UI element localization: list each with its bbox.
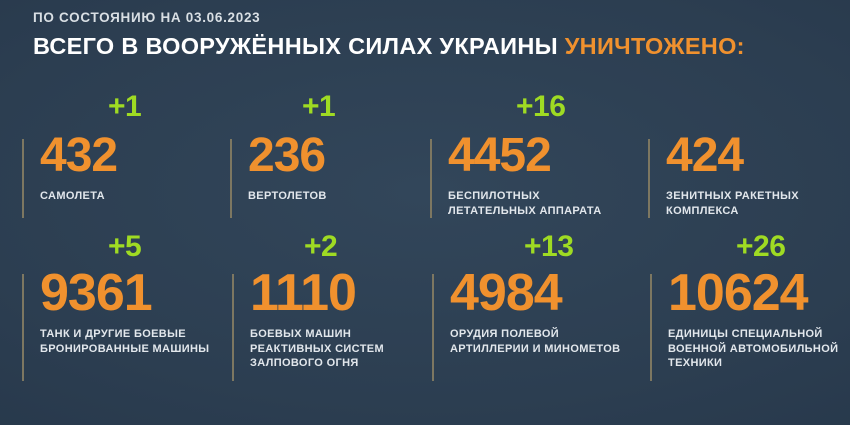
stat-caption: САМОЛЕТА (40, 189, 105, 204)
delta-badge: +16 (516, 92, 565, 122)
stat-value: 1110 (250, 267, 356, 319)
cell-divider (430, 139, 432, 218)
cell-divider (22, 274, 24, 381)
delta-badge: +2 (304, 232, 337, 262)
cell-divider (650, 274, 652, 381)
delta-badge: +1 (302, 92, 335, 122)
stats-row: +5 9361 ТАНК И ДРУГИЕ БОЕВЫЕ БРОНИРОВАНН… (0, 232, 850, 382)
cell-divider (432, 274, 434, 381)
page-title: ВСЕГО В ВООРУЖЁННЫХ СИЛАХ УКРАИНЫ УНИЧТО… (33, 35, 840, 59)
delta-badge: +26 (736, 232, 785, 262)
cell-divider (22, 139, 24, 218)
page-title-main: ВСЕГО В ВООРУЖЁННЫХ СИЛАХ УКРАИНЫ (33, 33, 565, 59)
stats-row: +1 432 САМОЛЕТА +1 236 ВЕРТОЛЕТОВ +16 44… (0, 92, 850, 232)
cell-divider (232, 274, 234, 381)
cell-divider (648, 139, 650, 218)
stat-caption: ТАНК И ДРУГИЕ БОЕВЫЕ БРОНИРОВАННЫЕ МАШИН… (40, 327, 209, 356)
poster-header: ПО СОСТОЯНИЮ НА 03.06.2023 ВСЕГО В ВООРУ… (33, 11, 840, 58)
stat-value: 424 (666, 132, 743, 180)
delta-badge: +1 (108, 92, 141, 122)
stat-caption: ЕДИНИЦЫ СПЕЦИАЛЬНОЙ ВОЕННОЙ АВТОМОБИЛЬНО… (668, 327, 838, 371)
stat-caption: ЗЕНИТНЫХ РАКЕТНЫХ КОМПЛЕКСА (666, 189, 799, 218)
delta-badge: +5 (108, 232, 141, 262)
page-title-accent: УНИЧТОЖЕНО: (565, 33, 745, 59)
stat-value: 4984 (450, 267, 562, 319)
stat-caption: БОЕВЫХ МАШИН РЕАКТИВНЫХ СИСТЕМ ЗАЛПОВОГО… (250, 327, 384, 371)
stats-grid: +1 432 САМОЛЕТА +1 236 ВЕРТОЛЕТОВ +16 44… (0, 92, 850, 382)
as-of-date: ПО СОСТОЯНИЮ НА 03.06.2023 (33, 11, 840, 25)
stat-caption: ОРУДИЯ ПОЛЕВОЙ АРТИЛЛЕРИИ И МИНОМЕТОВ (450, 327, 620, 356)
stat-value: 236 (248, 132, 325, 180)
stat-caption: ВЕРТОЛЕТОВ (248, 189, 327, 204)
infographic-poster: ПО СОСТОЯНИЮ НА 03.06.2023 ВСЕГО В ВООРУ… (0, 0, 850, 425)
cell-divider (230, 139, 232, 218)
stat-value: 10624 (668, 267, 808, 319)
stat-value: 9361 (40, 267, 152, 319)
stat-value: 432 (40, 132, 117, 180)
delta-badge: +13 (524, 232, 573, 262)
stat-caption: БЕСПИЛОТНЫХ ЛЕТАТЕЛЬНЫХ АППАРАТА (448, 189, 602, 218)
stat-value: 4452 (448, 132, 551, 180)
